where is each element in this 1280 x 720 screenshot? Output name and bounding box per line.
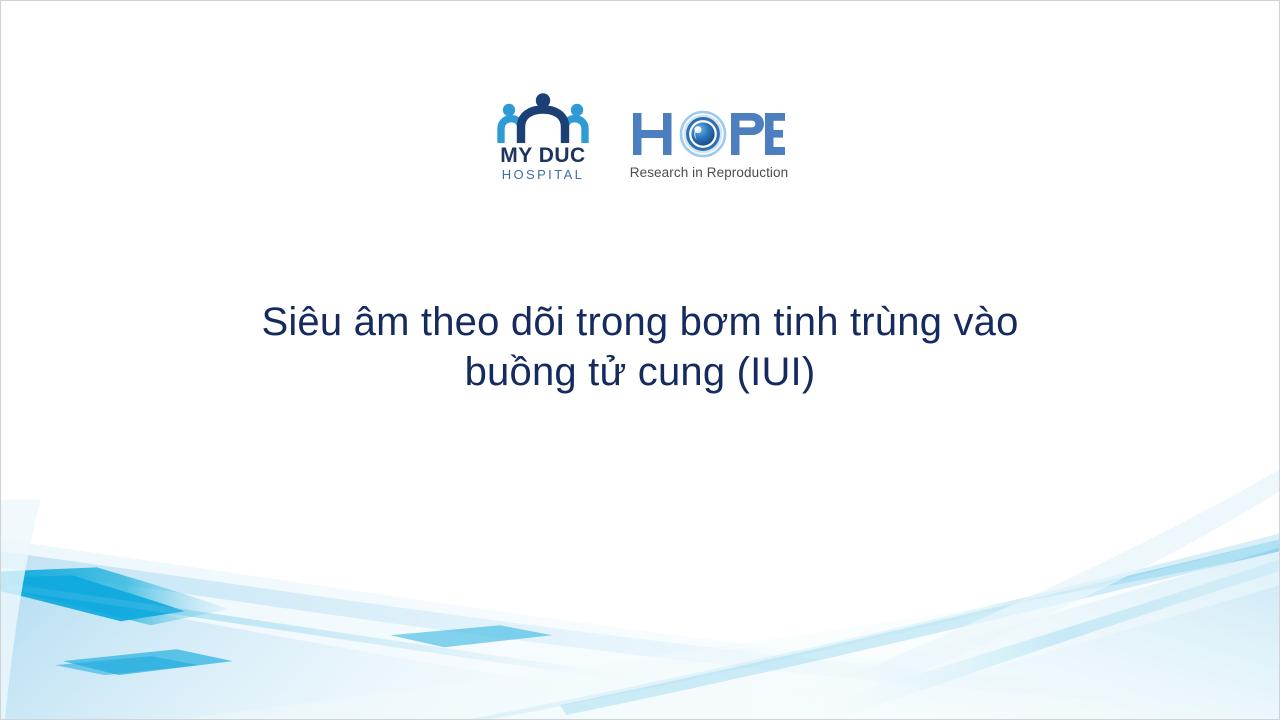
hope-wordmark-with-embryo-icon (631, 109, 787, 163)
page-title-line-2: buồng tử cung (IUI) (465, 350, 816, 394)
myduc-hospital-logo: MY DUC HOSPITAL (491, 93, 595, 182)
hope-logo: Research in Reproduction (629, 93, 789, 180)
embryo-circle-icon (681, 112, 725, 156)
title-slide: MY DUC HOSPITAL (0, 0, 1280, 720)
title-block: Siêu âm theo dõi trong bơm tinh trùng và… (1, 297, 1279, 397)
page-title-line-1: Siêu âm theo dõi trong bơm tinh trùng và… (261, 300, 1018, 344)
three-people-arch-icon (497, 93, 589, 143)
myduc-wordmark: MY DUC (500, 145, 585, 167)
page-title: Siêu âm theo dõi trong bơm tinh trùng và… (225, 297, 1055, 397)
hope-tagline: Research in Reproduction (630, 165, 789, 180)
myduc-sub-wordmark: HOSPITAL (502, 168, 585, 182)
logo-row: MY DUC HOSPITAL (1, 93, 1279, 182)
